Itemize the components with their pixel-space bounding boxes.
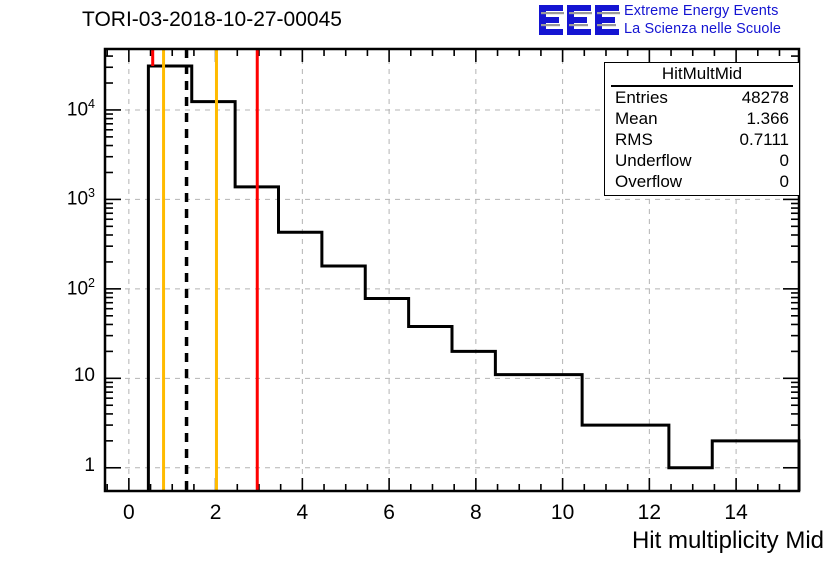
marker-lines bbox=[153, 49, 258, 491]
x-tick-label: 0 bbox=[104, 501, 154, 525]
stats-value: 0 bbox=[780, 171, 789, 192]
stats-rows: Entries48278Mean1.366RMS0.7111Underflow0… bbox=[605, 87, 799, 192]
stats-row: Underflow0 bbox=[605, 150, 799, 171]
stats-row: Mean1.366 bbox=[605, 108, 799, 129]
stats-row: Overflow0 bbox=[605, 171, 799, 192]
x-tick-label: 2 bbox=[191, 501, 241, 525]
stats-key: RMS bbox=[615, 129, 653, 150]
stats-key: Overflow bbox=[615, 171, 682, 192]
stats-value: 48278 bbox=[742, 87, 789, 108]
x-tick-label: 8 bbox=[451, 501, 501, 525]
stats-title: HitMultMid bbox=[611, 63, 793, 87]
x-axis-title: Hit multiplicity Mid bbox=[632, 527, 824, 555]
stats-key: Underflow bbox=[615, 150, 692, 171]
x-tick-label: 12 bbox=[624, 501, 674, 525]
stats-value: 1.366 bbox=[746, 108, 789, 129]
stats-row: RMS0.7111 bbox=[605, 129, 799, 150]
y-tick-label: 1 bbox=[84, 455, 95, 477]
histogram-canvas: TORI-03-2018-10-27-00045 bbox=[0, 0, 836, 572]
x-tick-label: 14 bbox=[711, 501, 761, 525]
stats-key: Mean bbox=[615, 108, 658, 129]
y-tick-label: 102 bbox=[67, 276, 95, 300]
stats-value: 0 bbox=[780, 150, 789, 171]
stats-box: HitMultMid Entries48278Mean1.366RMS0.711… bbox=[604, 62, 800, 196]
stats-row: Entries48278 bbox=[605, 87, 799, 108]
x-tick-label: 6 bbox=[364, 501, 414, 525]
y-tick-label: 10 bbox=[74, 365, 95, 387]
y-tick-label: 103 bbox=[67, 186, 95, 210]
y-tick-label: 104 bbox=[67, 97, 95, 121]
stats-value: 0.7111 bbox=[740, 129, 789, 150]
stats-key: Entries bbox=[615, 87, 668, 108]
x-tick-label: 4 bbox=[277, 501, 327, 525]
x-tick-label: 10 bbox=[538, 501, 588, 525]
